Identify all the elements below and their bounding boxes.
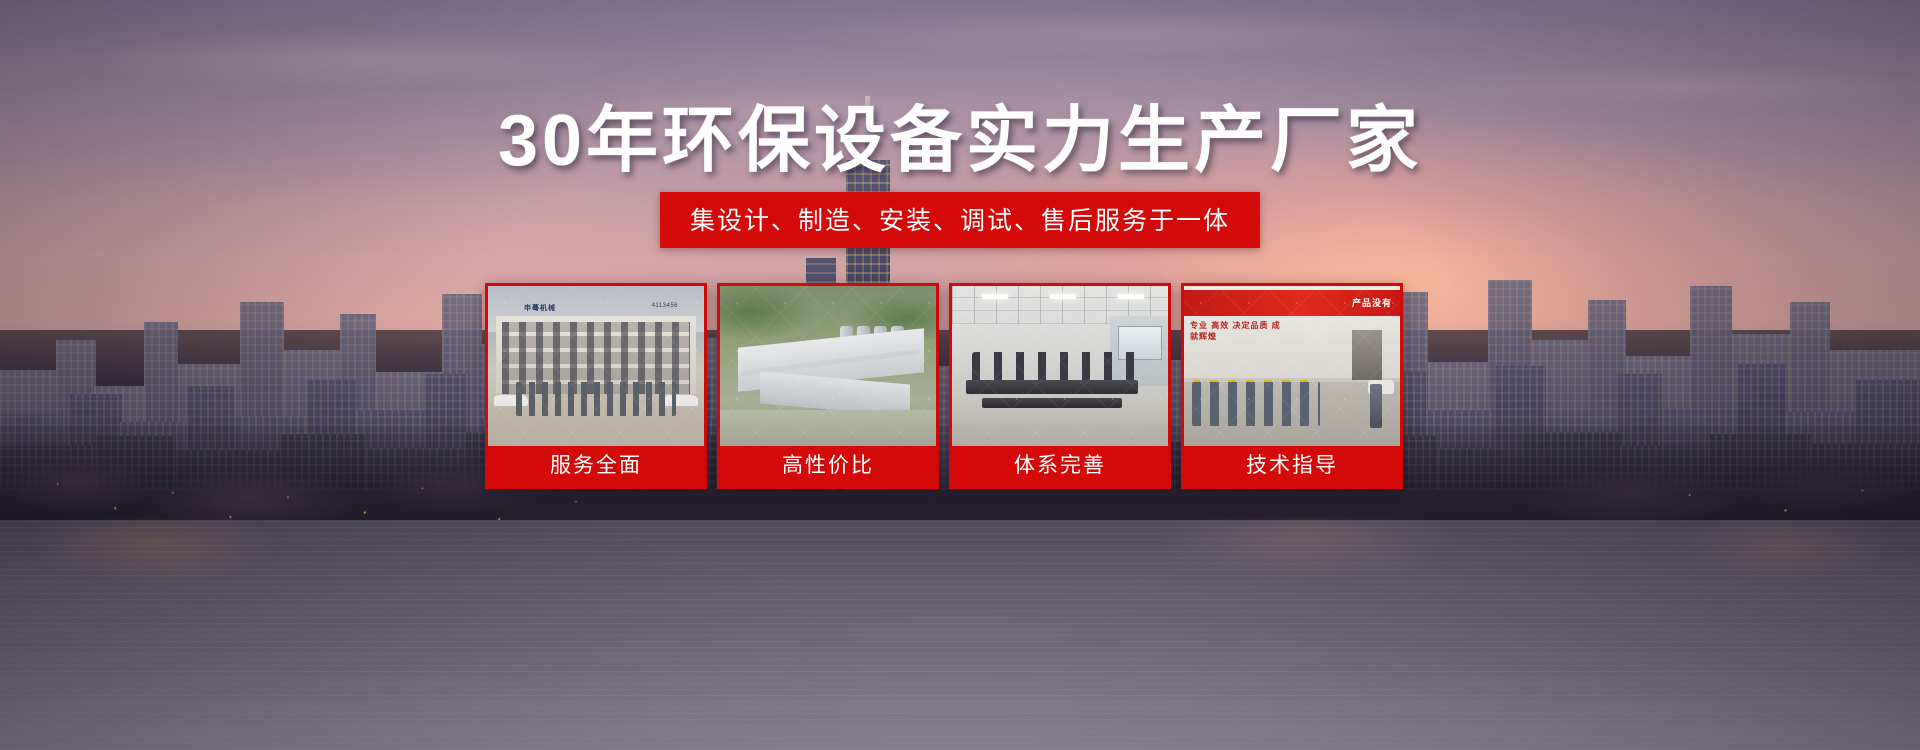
banner-subtitle-bar: 集设计、制造、安装、调试、售后服务于一体 (660, 192, 1260, 248)
feature-card[interactable]: 产品没有 专业 高效 决定品质 成就辉煌 技术指导 (1181, 283, 1403, 489)
card-label: 体系完善 (952, 446, 1168, 486)
watermark-overlay (952, 286, 1168, 446)
card-photo-company-office-building-with-staff: 申蓦机械 4113456 (488, 286, 704, 446)
card-label: 技术指导 (1184, 446, 1400, 486)
banner-headline: 30年环保设备实力生产厂家 (0, 104, 1920, 180)
card-label: 高性价比 (720, 446, 936, 486)
watermark-overlay (1184, 286, 1400, 446)
feature-card[interactable]: 高性价比 (717, 283, 939, 489)
building-sign-secondary: 4113456 (652, 303, 678, 309)
feature-cards-row: 申蓦机械 4113456 服务全面 (485, 283, 1435, 489)
card-photo-workshop-crew-with-hard-hats: 产品没有 专业 高效 决定品质 成就辉煌 (1184, 286, 1400, 446)
feature-card[interactable]: 申蓦机械 4113456 服务全面 (485, 283, 707, 489)
card-photo-aerial-view-of-production-plant (720, 286, 936, 446)
building-sign-text: 申蓦机械 (524, 303, 556, 313)
banner-content: 30年环保设备实力生产厂家 集设计、制造、安装、调试、售后服务于一体 申蓦机械 … (0, 0, 1920, 750)
hero-banner: 30年环保设备实力生产厂家 集设计、制造、安装、调试、售后服务于一体 申蓦机械 … (0, 0, 1920, 750)
card-photo-office-interior-with-team (952, 286, 1168, 446)
watermark-overlay (720, 286, 936, 446)
watermark-overlay (488, 286, 704, 446)
card-label: 服务全面 (488, 446, 704, 486)
feature-card[interactable]: 体系完善 (949, 283, 1171, 489)
